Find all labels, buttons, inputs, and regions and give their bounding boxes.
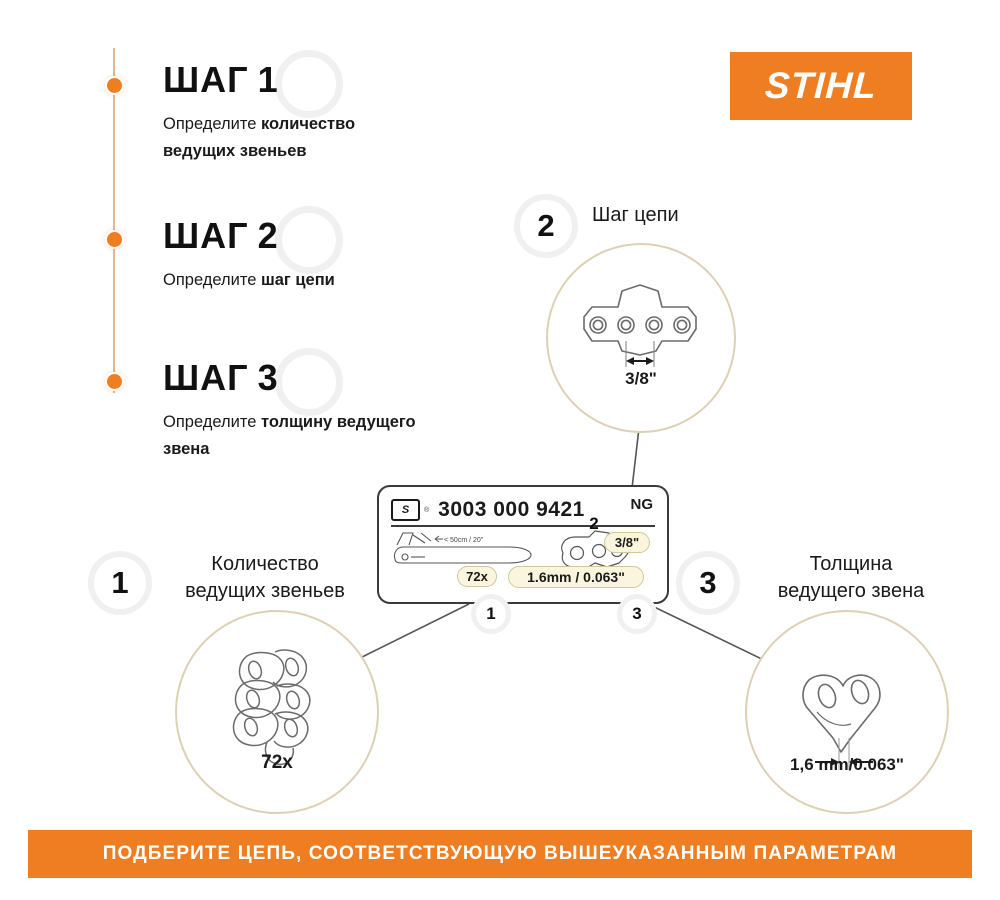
step-1-desc-bold: количество	[261, 115, 355, 133]
infographic-canvas: ШАГ1 Определите количество ведущих звень…	[0, 0, 1000, 900]
detail-gauge-value: 1,6 mm/0.063"	[747, 755, 947, 775]
step-3-title-word: ШАГ	[163, 357, 249, 398]
step-3-desc-prefix: Определите	[163, 413, 261, 431]
plate-bar-length: < 50cm / 20"	[444, 537, 484, 544]
step-1-ghost-circle	[275, 50, 343, 118]
step-2-ghost-circle	[275, 206, 343, 274]
chain-pitch-illustration	[548, 245, 734, 431]
drive-links-stack-illustration	[177, 612, 377, 812]
plate-marker-2: 2	[581, 511, 607, 537]
timeline-dot-2	[107, 232, 122, 247]
step-3-number: 3	[258, 357, 279, 398]
stihl-logo: STIHL	[730, 52, 912, 120]
step-2-desc-prefix: Определите	[163, 271, 261, 289]
step-2-number: 2	[258, 215, 279, 256]
registered-mark: ®	[424, 507, 429, 514]
step-2-desc-bold: шаг цепи	[261, 271, 335, 289]
detail-circle-drive-links: 72x	[175, 610, 379, 814]
step-1-number: 1	[258, 59, 279, 100]
detail-pitch-value: 3/8"	[548, 369, 734, 389]
step-1-desc-prefix: Определите	[163, 115, 261, 133]
stihl-logo-text: STIHL	[764, 65, 878, 107]
detail-circle-gauge: 1,6 mm/0.063"	[745, 610, 949, 814]
timeline-dot-3	[107, 374, 122, 389]
plate-gauge-chip: 1.6mm / 0.063"	[508, 566, 644, 588]
step-2: ШАГ2 Определите шаг цепи	[163, 218, 335, 294]
step-3-description: Определите толщину ведущего звена	[163, 409, 428, 463]
callout-label-pitch: Шаг цепи	[592, 202, 679, 229]
callout-badge-2-number: 2	[537, 208, 554, 244]
timeline-dot-1	[107, 78, 122, 93]
plate-pitch-chip: 3/8"	[604, 532, 650, 553]
step-1-description: Определите количество ведущих звеньев	[163, 111, 428, 165]
step-1-desc-suffix: ведущих звеньев	[163, 142, 307, 160]
bottom-banner: ПОДБЕРИТЕ ЦЕПЬ, СООТВЕТСТВУЮЩУЮ ВЫШЕУКАЗ…	[28, 830, 972, 878]
detail-drive-links-value: 72x	[177, 752, 377, 774]
plate-marker-3: 3	[617, 594, 657, 634]
step-3-desc-bold: толщину	[261, 413, 332, 431]
plate-marker-1: 1	[471, 594, 511, 634]
callout-badge-3-number: 3	[699, 565, 716, 601]
step-3-title: ШАГ3	[163, 360, 428, 396]
step-2-title-word: ШАГ	[163, 215, 249, 256]
timeline-track	[113, 48, 115, 393]
plate-part-number: 3003 000 9421	[438, 498, 585, 522]
step-2-description: Определите шаг цепи	[163, 267, 335, 294]
bottom-banner-text: ПОДБЕРИТЕ ЦЕПЬ, СООТВЕТСТВУЮЩУЮ ВЫШЕУКАЗ…	[103, 843, 897, 865]
step-3: ШАГ3 Определите толщину ведущего звена	[163, 360, 428, 463]
step-1-title: ШАГ1	[163, 62, 428, 98]
step-1-title-word: ШАГ	[163, 59, 249, 100]
detail-circle-pitch: 3/8"	[546, 243, 736, 433]
plate-header-row: S ® 3003 000 9421	[391, 495, 655, 527]
callout-label-drive-links: Количество ведущих звеньев	[140, 551, 390, 605]
step-2-title: ШАГ2	[163, 218, 335, 254]
drive-link-gauge-illustration	[747, 612, 947, 812]
step-1: ШАГ1 Определите количество ведущих звень…	[163, 62, 428, 165]
step-3-ghost-circle	[275, 348, 343, 416]
callout-label-gauge: Толщина ведущего звена	[726, 551, 976, 605]
plate-chain-type: NG	[631, 496, 654, 513]
plate-drive-links-chip: 72x	[457, 566, 497, 587]
stihl-mark-icon: S	[391, 499, 420, 521]
callout-badge-1-number: 1	[111, 565, 128, 601]
